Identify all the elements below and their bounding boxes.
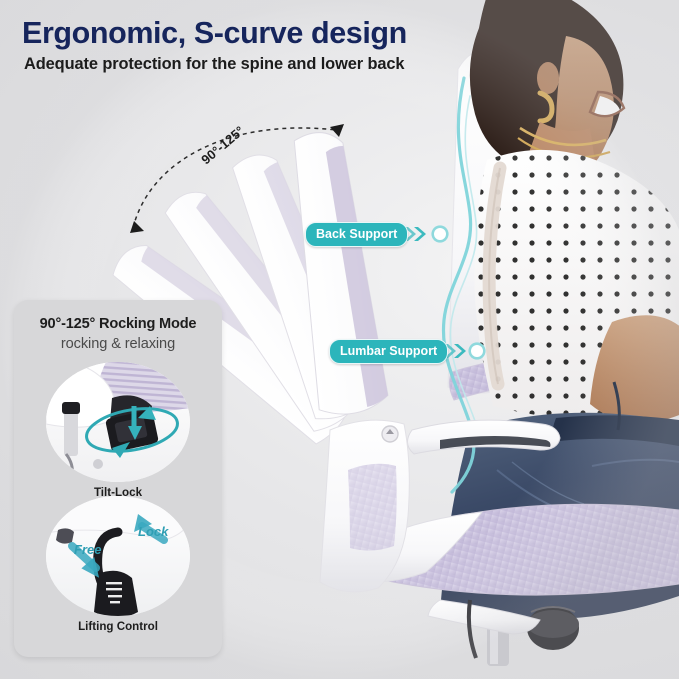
lock-arrow-label: Lock [138,524,168,539]
badge-back-support[interactable]: Back Support [305,222,408,247]
inset-title: 90°-125° Rocking Mode [14,316,222,332]
lifting-control-photo: Free Lock [46,496,190,616]
badge-lumbar-support[interactable]: Lumbar Support [329,339,448,364]
page-subtitle: Adequate protection for the spine and lo… [24,55,404,74]
inset-subtitle: rocking & relaxing [14,336,222,352]
tilt-lock-photo [46,362,190,482]
lifting-control-caption: Lifting Control [14,620,222,633]
page-title: Ergonomic, S-curve design [22,16,407,51]
product-infographic: 90°-125° Ergonomic, S-curve design Adequ… [0,0,679,679]
free-arrow-label: Free [74,542,101,557]
rocking-mode-inset-card: 90°-125° Rocking Mode rocking & relaxing [14,300,222,657]
